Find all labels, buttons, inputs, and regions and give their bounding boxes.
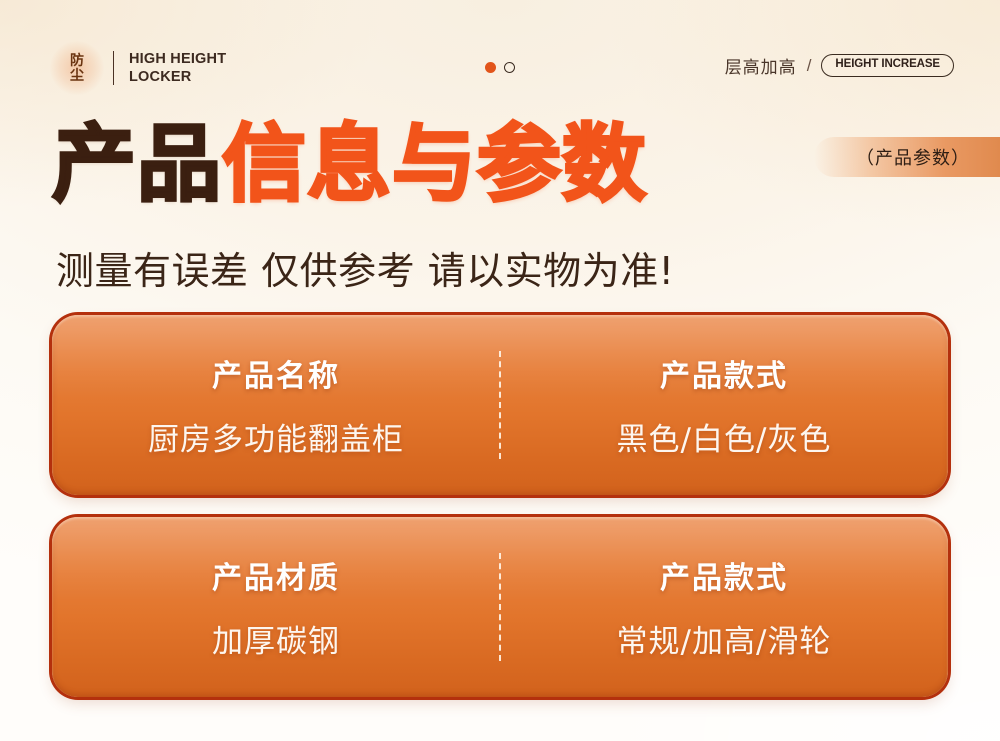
spec-cell-product-color: 产品款式 黑色/白色/灰色 — [500, 315, 948, 495]
spec-card-divider — [499, 351, 501, 459]
page-title-accent-part: 信息与参数 — [222, 115, 647, 213]
product-parameters-badge: （产品参数） — [814, 137, 1000, 177]
page-subtitle: 测量有误差 仅供参考 请以实物为准! — [56, 240, 674, 295]
spec-cell-product-material: 产品材质 加厚碳钢 — [52, 517, 500, 697]
product-spec-banner: 防 尘 HIGH HEIGHT LOCKER 层高加高 / HEIGHT INC… — [0, 0, 1000, 741]
spec-card: 产品名称 厨房多功能翻盖柜 产品款式 黑色/白色/灰色 — [52, 315, 948, 495]
tagline-chinese: 层高加高 — [725, 53, 797, 78]
brand-logo: 防 尘 HIGH HEIGHT LOCKER — [58, 40, 226, 96]
brand-divider — [113, 51, 114, 85]
tagline-english-pill: HEIGHT INCREASE — [821, 54, 954, 77]
brand-name-line-1: HIGH HEIGHT — [129, 50, 226, 68]
pagination-dot-inactive[interactable] — [504, 62, 515, 73]
tagline-separator: / — [807, 56, 812, 76]
dustproof-seal-icon: 防 尘 — [58, 47, 96, 89]
spec-label: 产品名称 — [212, 351, 340, 395]
spec-card: 产品材质 加厚碳钢 产品款式 常规/加高/滑轮 — [52, 517, 948, 697]
spec-value: 加厚碳钢 — [212, 616, 340, 661]
brand-mark-char-1: 防 — [70, 53, 84, 68]
spec-cell-product-style: 产品款式 常规/加高/滑轮 — [500, 517, 948, 697]
spec-card-divider — [499, 553, 501, 661]
brand-name-line-2: LOCKER — [129, 68, 226, 86]
header-tagline: 层高加高 / HEIGHT INCREASE — [725, 53, 954, 78]
spec-value: 常规/加高/滑轮 — [617, 616, 832, 661]
spec-label: 产品款式 — [660, 553, 788, 597]
brand-name: HIGH HEIGHT LOCKER — [129, 50, 226, 86]
brand-mark-char-2: 尘 — [70, 68, 84, 83]
spec-label: 产品款式 — [660, 351, 788, 395]
page-header: 防 尘 HIGH HEIGHT LOCKER 层高加高 / HEIGHT INC… — [0, 40, 1000, 96]
pagination-dots[interactable] — [485, 62, 515, 73]
spec-label: 产品材质 — [212, 553, 340, 597]
spec-value: 黑色/白色/灰色 — [617, 414, 832, 459]
spec-cell-product-name: 产品名称 厨房多功能翻盖柜 — [52, 315, 500, 495]
page-title-dark-part: 产品 — [52, 115, 222, 213]
pagination-dot-active[interactable] — [485, 62, 496, 73]
spec-value: 厨房多功能翻盖柜 — [148, 414, 404, 459]
page-title: 产品信息与参数 — [52, 118, 647, 210]
